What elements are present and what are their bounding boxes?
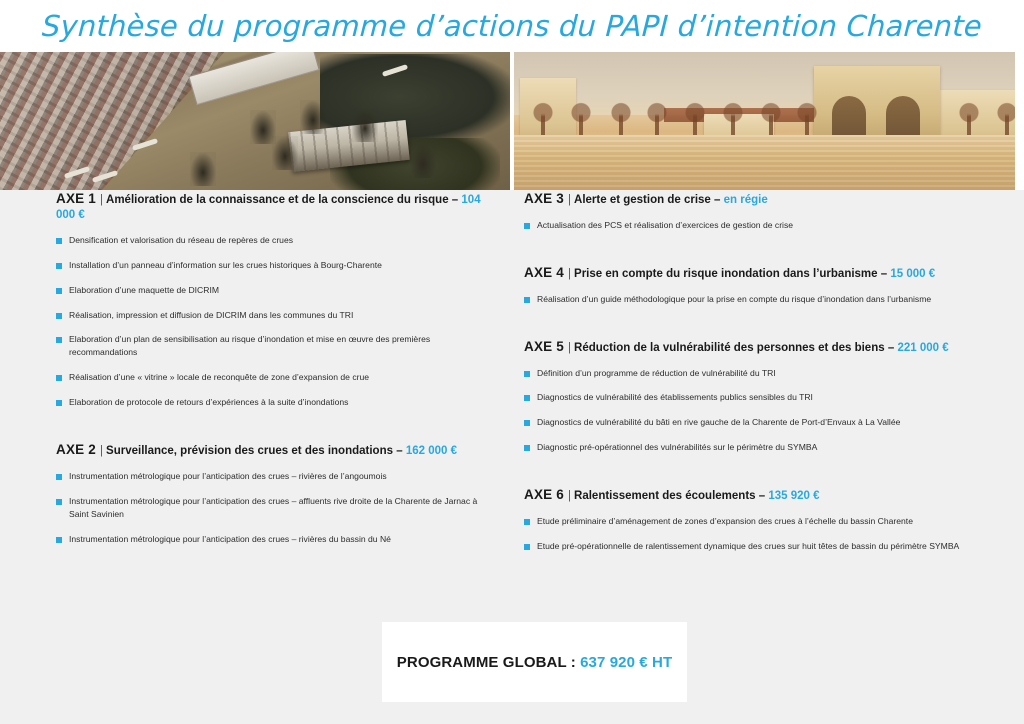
axe-number: AXE 1 xyxy=(56,191,96,206)
tree-icon xyxy=(272,136,298,170)
tree-icon xyxy=(410,144,436,178)
tree-icon xyxy=(300,100,326,134)
axe-heading: AXE 6|Ralentissement des écoulements – 1… xyxy=(524,486,974,504)
programme-global-label: PROGRAMME GLOBAL : xyxy=(397,654,576,671)
axe-cost: 135 920 € xyxy=(768,490,819,502)
axe-number: AXE 2 xyxy=(56,442,96,457)
axe-action-list: Actualisation des PCS et réalisation d’e… xyxy=(524,219,974,232)
programme-global-box: PROGRAMME GLOBAL : 637 920 € HT xyxy=(382,622,687,702)
axe-heading: AXE 5|Réduction de la vulnérabilité des … xyxy=(524,338,974,356)
axe-heading: AXE 2|Surveillance, prévision des crues … xyxy=(56,441,496,459)
axe-dash: – xyxy=(881,268,887,280)
page-title: Synthèse du programme d’actions du PAPI … xyxy=(41,9,983,43)
axe-separator: | xyxy=(568,342,571,354)
axe-dash: – xyxy=(714,194,720,206)
axes-column-left: AXE 1|Amélioration de la connaissance et… xyxy=(56,190,496,578)
flooded-square-roman-arch-photo xyxy=(514,52,1015,190)
axe-separator: | xyxy=(100,194,103,206)
title-band: Synthèse du programme d’actions du PAPI … xyxy=(0,0,1024,52)
axe-action-item: Elaboration de protocole de retours d’ex… xyxy=(56,396,496,409)
axe-title: Ralentissement des écoulements xyxy=(574,490,756,502)
axe-action-item: Réalisation d’une « vitrine » locale de … xyxy=(56,371,496,384)
axe-number: AXE 3 xyxy=(524,191,564,206)
axe-spacer xyxy=(56,421,496,441)
axe-dash: – xyxy=(396,445,402,457)
tree-icon xyxy=(190,152,216,186)
axe-spacer xyxy=(524,244,974,264)
axe-separator: | xyxy=(568,194,571,206)
axe-number: AXE 5 xyxy=(524,339,564,354)
axe-action-item: Instrumentation métrologique pour l’anti… xyxy=(56,495,496,521)
axe-separator: | xyxy=(568,268,571,280)
tree-icon xyxy=(352,108,378,142)
axe-block: AXE 3|Alerte et gestion de crise – en ré… xyxy=(524,190,974,232)
axe-title: Prise en compte du risque inondation dan… xyxy=(574,268,878,280)
axe-action-item: Densification et valorisation du réseau … xyxy=(56,234,496,247)
axe-title: Réduction de la vulnérabilité des person… xyxy=(574,342,885,354)
axe-cost: en régie xyxy=(724,194,768,206)
axe-action-item: Instrumentation métrologique pour l’anti… xyxy=(56,470,496,483)
axe-action-item: Etude pré-opérationnelle de ralentisseme… xyxy=(524,540,974,553)
axe-dash: – xyxy=(759,490,765,502)
axe-action-item: Elaboration d’un plan de sensibilisation… xyxy=(56,333,496,359)
axe-cost: 221 000 € xyxy=(897,342,948,354)
axe-action-item: Actualisation des PCS et réalisation d’e… xyxy=(524,219,974,232)
axe-action-item: Diagnostics de vulnérabilité des établis… xyxy=(524,391,974,404)
photo-band xyxy=(0,52,1024,190)
roman-arch xyxy=(814,66,940,144)
axe-title: Amélioration de la connaissance et de la… xyxy=(106,194,449,206)
axe-action-item: Diagnostics de vulnérabilité du bâti en … xyxy=(524,416,974,429)
axe-action-item: Elaboration d’une maquette de DICRIM xyxy=(56,284,496,297)
axe-block: AXE 1|Amélioration de la connaissance et… xyxy=(56,190,496,409)
axes-column-right: AXE 3|Alerte et gestion de crise – en ré… xyxy=(524,190,974,585)
axe-heading: AXE 1|Amélioration de la connaissance et… xyxy=(56,190,496,223)
axe-spacer xyxy=(56,558,496,578)
axe-block: AXE 2|Surveillance, prévision des crues … xyxy=(56,441,496,546)
axe-heading: AXE 3|Alerte et gestion de crise – en ré… xyxy=(524,190,974,208)
axe-title: Alerte et gestion de crise xyxy=(574,194,711,206)
axe-action-item: Diagnostic pré-opérationnel des vulnérab… xyxy=(524,441,974,454)
axe-action-item: Instrumentation métrologique pour l’anti… xyxy=(56,533,496,546)
axe-action-item: Définition d’un programme de réduction d… xyxy=(524,367,974,380)
axe-action-list: Etude préliminaire d’aménagement de zone… xyxy=(524,515,974,553)
axe-action-item: Etude préliminaire d’aménagement de zone… xyxy=(524,515,974,528)
axe-spacer xyxy=(524,565,974,585)
axe-cost: 162 000 € xyxy=(406,445,457,457)
axe-action-item: Réalisation, impression et diffusion de … xyxy=(56,309,496,322)
axe-spacer xyxy=(524,318,974,338)
axe-spacer xyxy=(524,466,974,486)
axe-block: AXE 4|Prise en compte du risque inondati… xyxy=(524,264,974,306)
axe-number: AXE 6 xyxy=(524,487,564,502)
axe-action-list: Définition d’un programme de réduction d… xyxy=(524,367,974,455)
axe-action-item: Réalisation d’un guide méthodologique po… xyxy=(524,293,974,306)
axe-block: AXE 5|Réduction de la vulnérabilité des … xyxy=(524,338,974,455)
programme-global-amount: 637 920 € HT xyxy=(580,654,672,671)
axe-action-list: Densification et valorisation du réseau … xyxy=(56,234,496,409)
axe-dash: – xyxy=(888,342,894,354)
axe-cost: 15 000 € xyxy=(890,268,935,280)
flood-water xyxy=(514,135,1015,190)
axe-dash: – xyxy=(452,194,458,206)
axe-title: Surveillance, prévision des crues et des… xyxy=(106,445,393,457)
axe-separator: | xyxy=(100,445,103,457)
axe-heading: AXE 4|Prise en compte du risque inondati… xyxy=(524,264,974,282)
axe-action-item: Installation d’un panneau d’information … xyxy=(56,259,496,272)
axe-block: AXE 6|Ralentissement des écoulements – 1… xyxy=(524,486,974,553)
programme-global-text: PROGRAMME GLOBAL : 637 920 € HT xyxy=(397,654,672,671)
axe-action-list: Réalisation d’un guide méthodologique po… xyxy=(524,293,974,306)
aerial-flooded-town-river-photo xyxy=(0,52,510,190)
axe-action-list: Instrumentation métrologique pour l’anti… xyxy=(56,470,496,546)
axe-separator: | xyxy=(568,490,571,502)
axe-number: AXE 4 xyxy=(524,265,564,280)
